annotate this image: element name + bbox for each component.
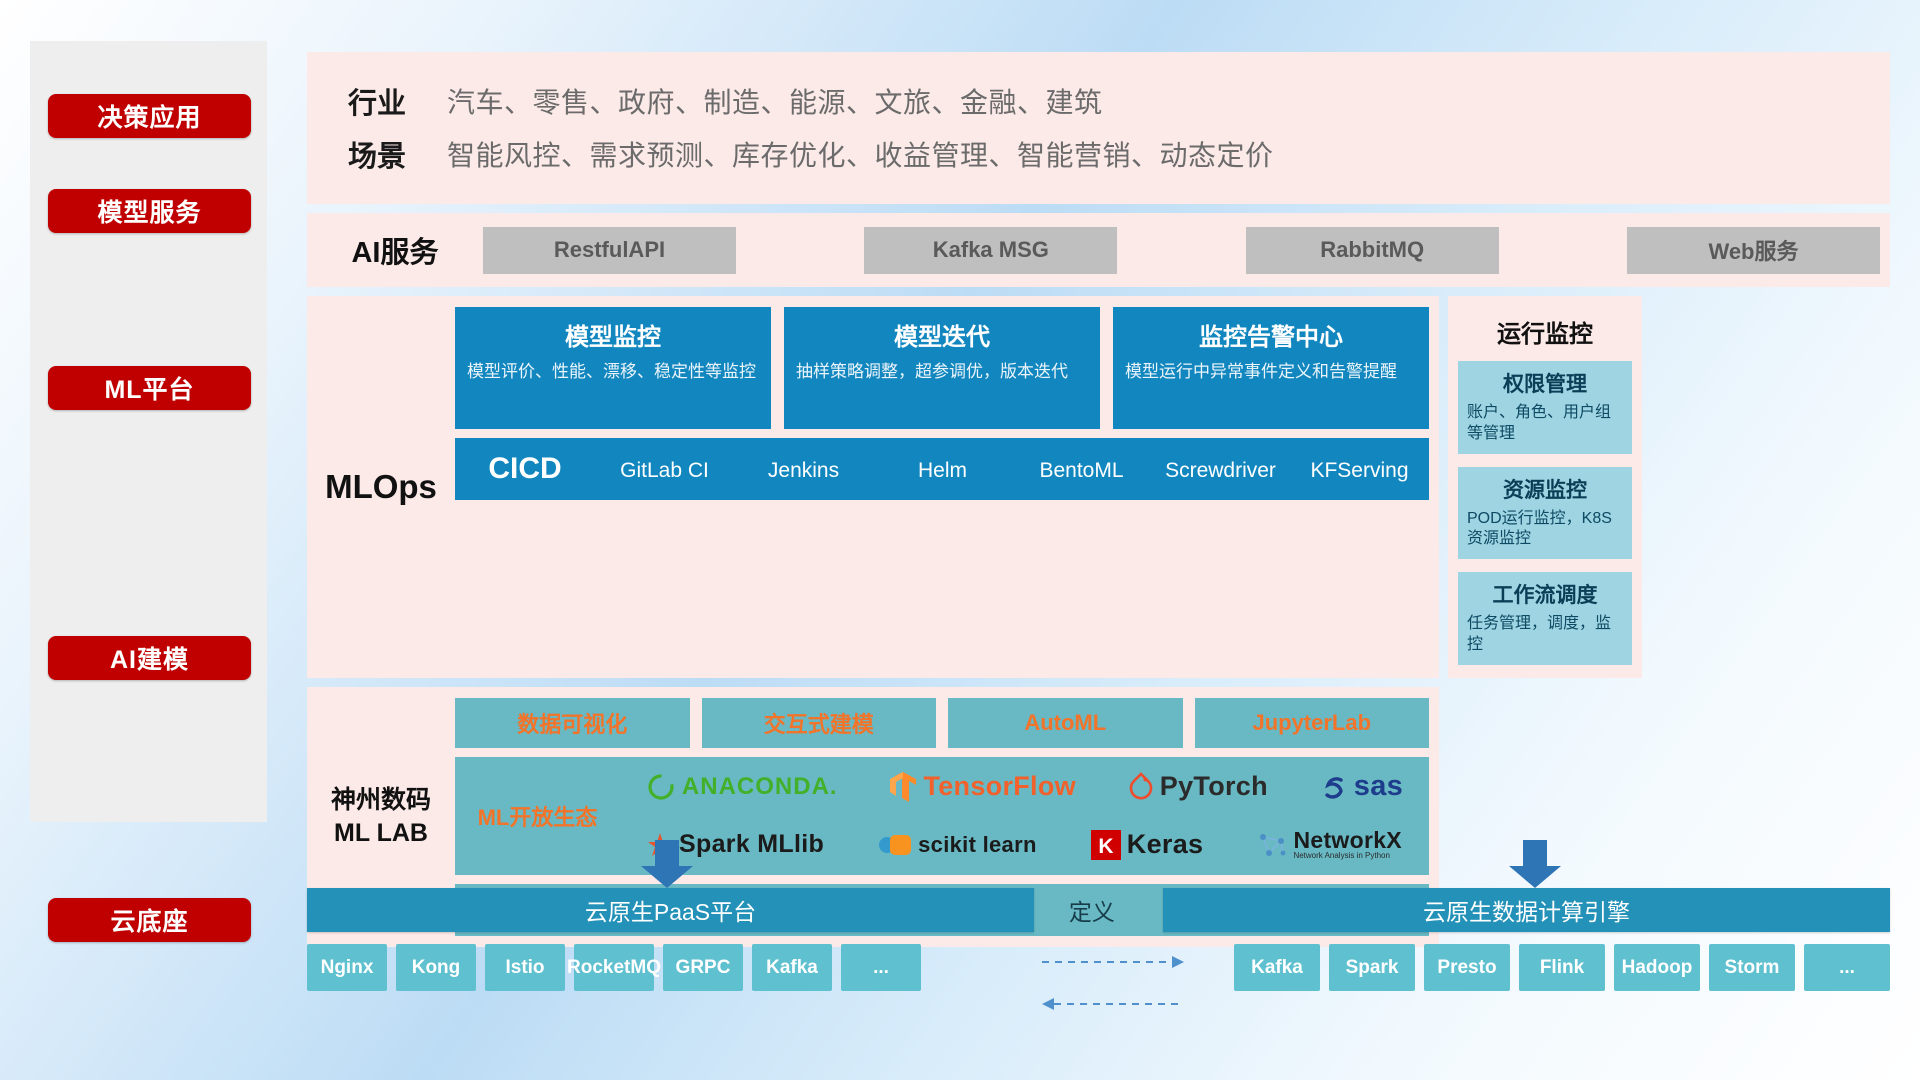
mlops-card-title: 监控告警中心 [1125,317,1417,352]
ai-services-band: AI服务 RestfulAPI Kafka MSG RabbitMQ Web服务 [307,213,1890,287]
layer-label-text: AI建模 [110,640,189,676]
cicd-item[interactable]: Screwdriver [1151,458,1290,481]
paas-chip[interactable]: RocketMQ [574,944,654,991]
monitor-panel: 运行监控 权限管理 账户、角色、用户组等管理 资源监控 POD运行监控，K8S资… [1448,296,1642,678]
sas-label: sas [1354,770,1403,803]
monitor-card-desc: 账户、角色、用户组等管理 [1467,403,1623,445]
mlops-card[interactable]: 模型监控 模型评价、性能、漂移、稳定性等监控 [455,307,771,429]
ml-lab-tool-list: 数据可视化 交互式建模 AutoML JupyterLab [455,698,1429,748]
up-arrow-right [1509,840,1561,888]
ml-lab-tool[interactable]: 数据可视化 [455,698,690,748]
scenario-value: 智能风控、需求预测、库存优化、收益管理、智能营销、动态定价 [447,134,1274,174]
mlops-band: MLOps 模型监控 模型评价、性能、漂移、稳定性等监控 模型迭代 抽样策略调整… [307,296,1439,678]
layer-label-text: ML平台 [104,370,194,406]
connector-arrows [307,840,1890,890]
ml-ecosystem-label: ML开放生态 [455,800,620,832]
logo-row-1: ANACONDA. TensorFlow [620,759,1429,815]
cicd-item[interactable]: GitLab CI [595,458,734,481]
paas-chip-more[interactable]: ... [841,944,921,991]
mlops-content: 模型监控 模型评价、性能、漂移、稳定性等监控 模型迭代 抽样策略调整，超参调优，… [455,307,1439,667]
tensorflow-label: TensorFlow [923,771,1076,802]
monitor-title: 运行监控 [1458,306,1632,361]
data-chip[interactable]: Hadoop [1614,944,1700,991]
cicd-item[interactable]: BentoML [1012,458,1151,481]
ml-lab-key-line1: 神州数码 [331,784,431,817]
monitor-card-desc: POD运行监控，K8S资源监控 [1467,509,1623,551]
mlops-card-desc: 模型评价、性能、漂移、稳定性等监控 [467,361,759,384]
mlops-row: MLOps 模型监控 模型评价、性能、漂移、稳定性等监控 模型迭代 抽样策略调整… [307,296,1890,678]
monitor-card-workflow[interactable]: 工作流调度 任务管理，调度，监控 [1458,572,1632,665]
layer-label-model-service[interactable]: 模型服务 [48,189,251,233]
up-arrow-left [641,840,693,888]
cloud-bars: 云原生PaaS平台 云原生数据计算引擎 [307,888,1890,932]
data-chip-group: Kafka Spark Presto Flink Hadoop Storm ..… [1234,944,1890,991]
data-chip[interactable]: Spark [1329,944,1415,991]
data-chip[interactable]: Storm [1709,944,1795,991]
data-chip-more[interactable]: ... [1804,944,1890,991]
anaconda-label: ANACONDA. [682,773,838,801]
mlops-card-desc: 抽样策略调整，超参调优，版本迭代 [796,361,1088,384]
scenario-key: 行业 [307,80,447,122]
paas-chip[interactable]: Istio [485,944,565,991]
ai-service-box[interactable]: Kafka MSG [864,227,1117,274]
diagram-canvas: 决策应用 模型服务 ML平台 AI建模 云底座 行业 汽车、零售、政府、制造、能… [0,0,1920,1080]
cicd-item[interactable]: Helm [873,458,1012,481]
mlops-card-list: 模型监控 模型评价、性能、漂移、稳定性等监控 模型迭代 抽样策略调整，超参调优，… [455,307,1429,429]
architecture-stack: 行业 汽车、零售、政府、制造、能源、文旅、金融、建筑 场景 智能风控、需求预测、… [307,52,1890,947]
scenario-key: 场景 [307,133,447,175]
ml-lab-tool[interactable]: JupyterLab [1195,698,1430,748]
pytorch-icon [1128,772,1154,802]
paas-chip-group: Nginx Kong Istio RocketMQ GRPC Kafka ... [307,944,921,991]
scenario-row-usecase: 场景 智能风控、需求预测、库存优化、收益管理、智能营销、动态定价 [307,127,1890,180]
dashed-connectors [1040,952,1186,1020]
layer-label-decision[interactable]: 决策应用 [48,94,251,138]
monitor-card-permission[interactable]: 权限管理 账户、角色、用户组等管理 [1458,361,1632,454]
ai-services-list: RestfulAPI Kafka MSG RabbitMQ Web服务 [483,227,1890,274]
anaconda-logo: ANACONDA. [646,772,838,802]
scenario-row-industry: 行业 汽车、零售、政府、制造、能源、文旅、金融、建筑 [307,74,1890,127]
anaconda-icon [646,772,676,802]
ai-service-box[interactable]: RestfulAPI [483,227,736,274]
sas-icon [1320,773,1348,801]
ai-service-box[interactable]: Web服务 [1627,227,1880,274]
layer-label-text: 云底座 [110,902,188,938]
tensorflow-icon [889,771,917,803]
ai-service-box[interactable]: RabbitMQ [1246,227,1499,274]
data-chip[interactable]: Flink [1519,944,1605,991]
layer-label-cloud-base[interactable]: 云底座 [48,898,251,942]
ai-services-key: AI服务 [307,229,483,271]
monitor-card-title: 资源监控 [1467,474,1623,504]
ml-lab-tool[interactable]: AutoML [948,698,1183,748]
tensorflow-logo: TensorFlow [889,771,1076,803]
mlops-card-desc: 模型运行中异常事件定义和告警提醒 [1125,361,1417,384]
data-chip[interactable]: Presto [1424,944,1510,991]
data-chip[interactable]: Kafka [1234,944,1320,991]
paas-chip[interactable]: GRPC [663,944,743,991]
cloud-data-engine-bar[interactable]: 云原生数据计算引擎 [1163,888,1890,932]
monitor-card-title: 权限管理 [1467,368,1623,398]
cicd-bar: CICD GitLab CI Jenkins Helm BentoML Scre… [455,438,1429,500]
mlops-key: MLOps [307,307,455,667]
mlops-card-title: 模型监控 [467,317,759,352]
ml-lab-tool[interactable]: 交互式建模 [702,698,937,748]
pytorch-label: PyTorch [1160,771,1268,802]
layer-rail: 决策应用 模型服务 ML平台 AI建模 [30,41,267,822]
layer-label-ai-modeling[interactable]: AI建模 [48,636,251,680]
monitor-card-resource[interactable]: 资源监控 POD运行监控，K8S资源监控 [1458,467,1632,560]
cloud-paas-bar[interactable]: 云原生PaaS平台 [307,888,1034,932]
mlops-card[interactable]: 监控告警中心 模型运行中异常事件定义和告警提醒 [1113,307,1429,429]
pytorch-logo: PyTorch [1128,771,1268,802]
cicd-item[interactable]: Jenkins [734,458,873,481]
layer-label-text: 模型服务 [97,193,201,229]
monitor-card-desc: 任务管理，调度，监控 [1467,614,1623,656]
layer-label-text: 决策应用 [97,98,201,134]
scenario-value: 汽车、零售、政府、制造、能源、文旅、金融、建筑 [447,81,1103,121]
arrowhead-right [1172,956,1184,968]
cicd-item[interactable]: KFServing [1290,458,1429,481]
paas-chip[interactable]: Kafka [752,944,832,991]
sas-logo: sas [1320,770,1403,803]
mlops-card-title: 模型迭代 [796,317,1088,352]
mlops-card[interactable]: 模型迭代 抽样策略调整，超参调优，版本迭代 [784,307,1100,429]
cicd-title: CICD [455,452,595,486]
arrowhead-left [1042,998,1054,1010]
layer-label-ml-platform[interactable]: ML平台 [48,366,251,410]
scenarios-band: 行业 汽车、零售、政府、制造、能源、文旅、金融、建筑 场景 智能风控、需求预测、… [307,52,1890,204]
paas-chip[interactable]: Kong [396,944,476,991]
paas-chip[interactable]: Nginx [307,944,387,991]
monitor-card-title: 工作流调度 [1467,579,1623,609]
